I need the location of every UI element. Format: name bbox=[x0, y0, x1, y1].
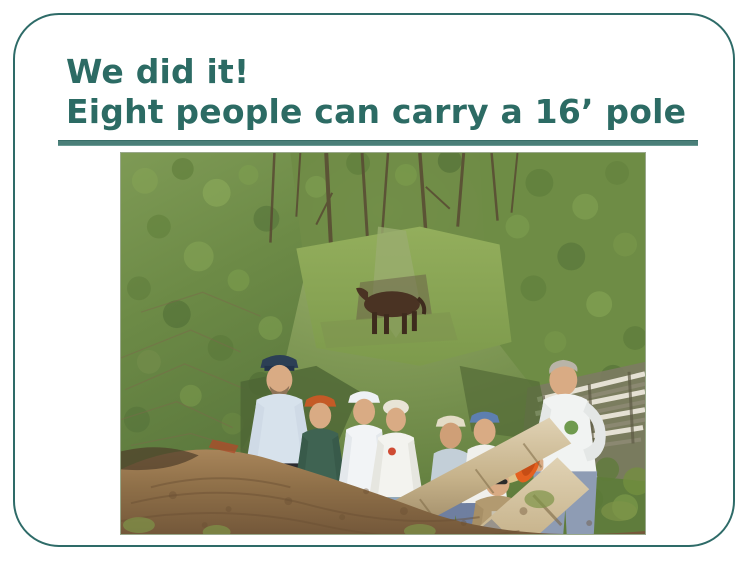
title-line-1: We did it! bbox=[66, 52, 706, 92]
photo-person-7 bbox=[466, 455, 540, 534]
photo-midground-shrubs bbox=[241, 366, 552, 456]
photo-rope bbox=[314, 495, 503, 534]
presentation-slide: We did it! Eight people can carry a 16’ … bbox=[0, 0, 750, 562]
title-divider-rule bbox=[58, 140, 698, 146]
photo-person-4 bbox=[370, 400, 422, 534]
photo-canvas bbox=[121, 153, 645, 534]
slide-title: We did it! Eight people can carry a 16’ … bbox=[66, 52, 706, 132]
photo-people-group bbox=[247, 355, 606, 534]
photo-person-8 bbox=[514, 360, 605, 534]
photo-person-6 bbox=[462, 412, 510, 534]
photo-background-foliage bbox=[121, 153, 645, 534]
photo-person-1 bbox=[247, 355, 317, 534]
photo-dirt-bank bbox=[121, 439, 645, 534]
photo-grass-clearing bbox=[296, 227, 511, 366]
photo-person-5 bbox=[428, 416, 476, 534]
photo-lumber-pile bbox=[519, 362, 645, 520]
photo-logs bbox=[344, 418, 589, 534]
photo-horse bbox=[356, 288, 424, 334]
title-line-2: Eight people can carry a 16’ pole bbox=[66, 92, 706, 132]
photo-person-2 bbox=[294, 395, 350, 534]
photo-person-3 bbox=[338, 391, 390, 534]
slide-photo bbox=[120, 152, 646, 535]
